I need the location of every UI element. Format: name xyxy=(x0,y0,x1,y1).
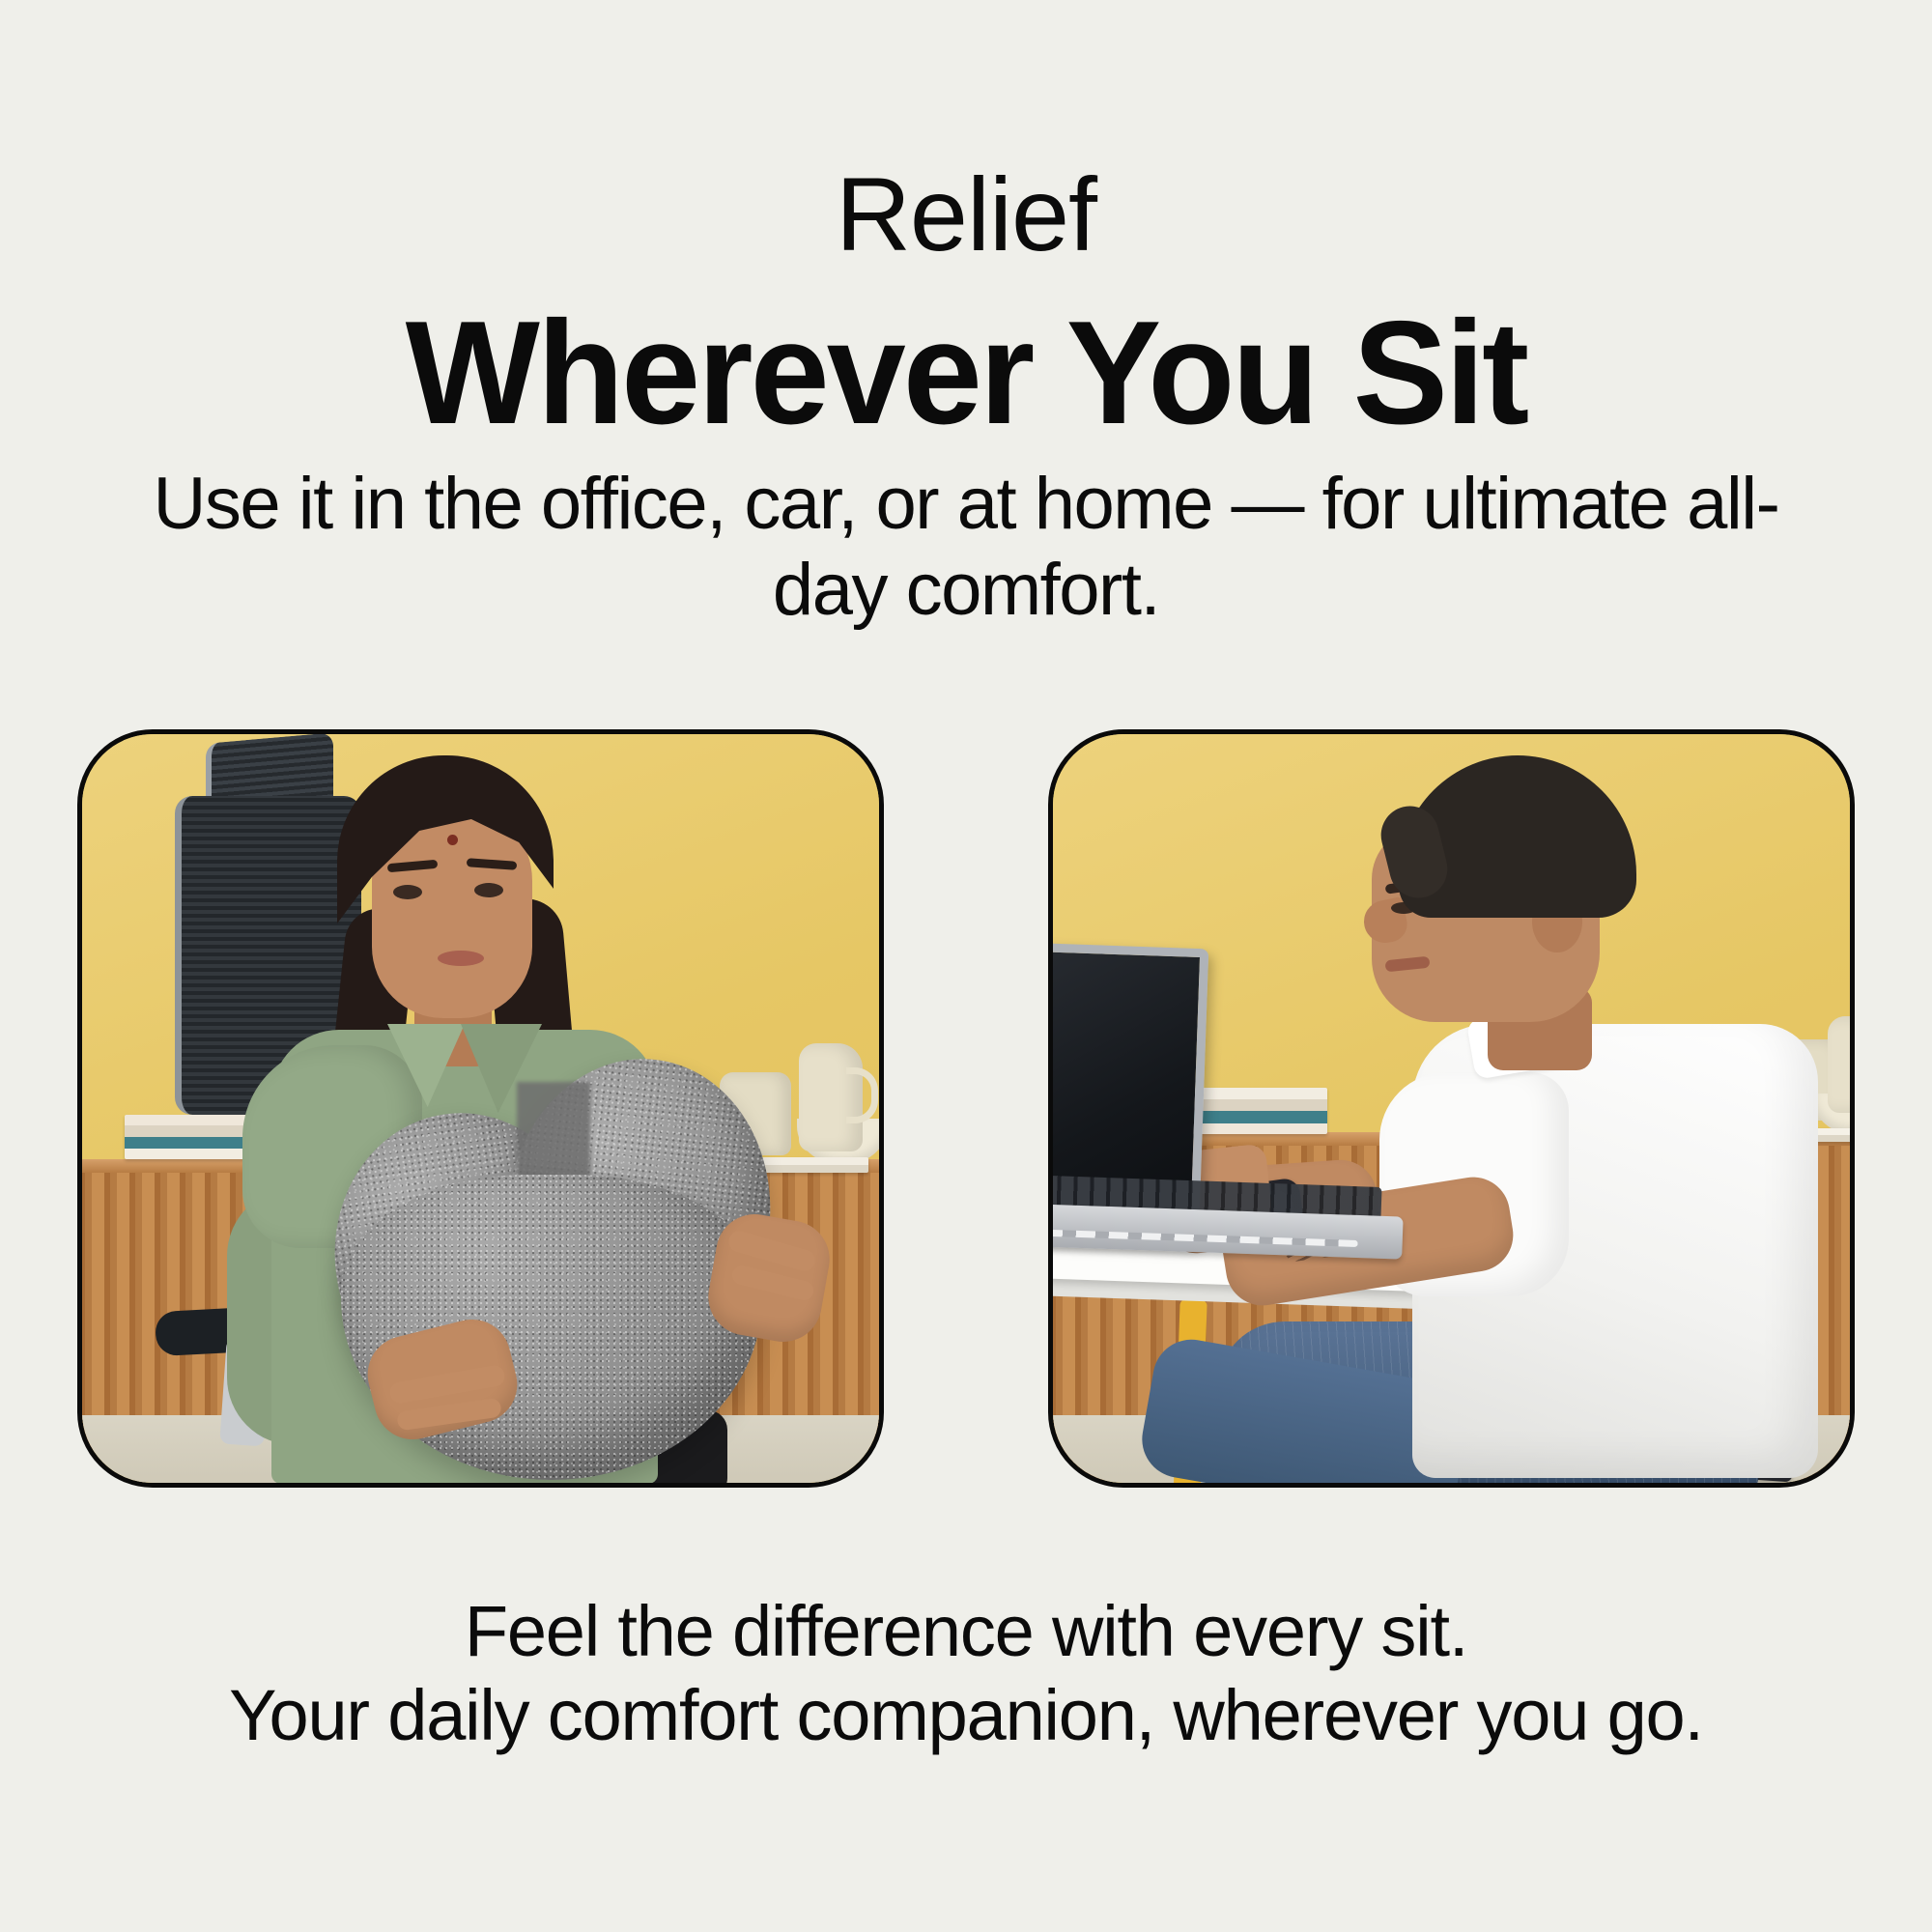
footer-line-1: Feel the difference with every sit. xyxy=(465,1591,1467,1671)
eye-right xyxy=(474,883,503,897)
photo-panel-group xyxy=(0,729,1932,1488)
book-stack xyxy=(125,1115,260,1159)
desk-laptop-photo xyxy=(1053,734,1850,1483)
footer-caption: Feel the difference with every sit. Your… xyxy=(97,1589,1835,1758)
footer-line-2: Your daily comfort companion, wherever y… xyxy=(97,1673,1835,1757)
office-chair-photo xyxy=(82,734,879,1483)
panel-desk-laptop-scene xyxy=(1048,729,1855,1488)
panel-office-chair-scene xyxy=(77,729,884,1488)
book-stack xyxy=(1182,1088,1327,1134)
lips xyxy=(438,951,484,966)
decor-pitcher xyxy=(1828,1016,1850,1113)
eyebrow-heading: Relief xyxy=(0,162,1932,267)
eye-left xyxy=(393,885,422,899)
product-marketing-card: Relief Wherever You Sit Use it in the of… xyxy=(0,0,1932,1932)
page-title: Wherever You Sit xyxy=(29,299,1903,446)
subtitle: Use it in the office, car, or at home — … xyxy=(97,462,1835,634)
decor-pitcher xyxy=(799,1043,863,1151)
bindi xyxy=(447,835,458,845)
subtitle-line-1: Use it in the office, car, or at home — … xyxy=(154,463,1668,545)
